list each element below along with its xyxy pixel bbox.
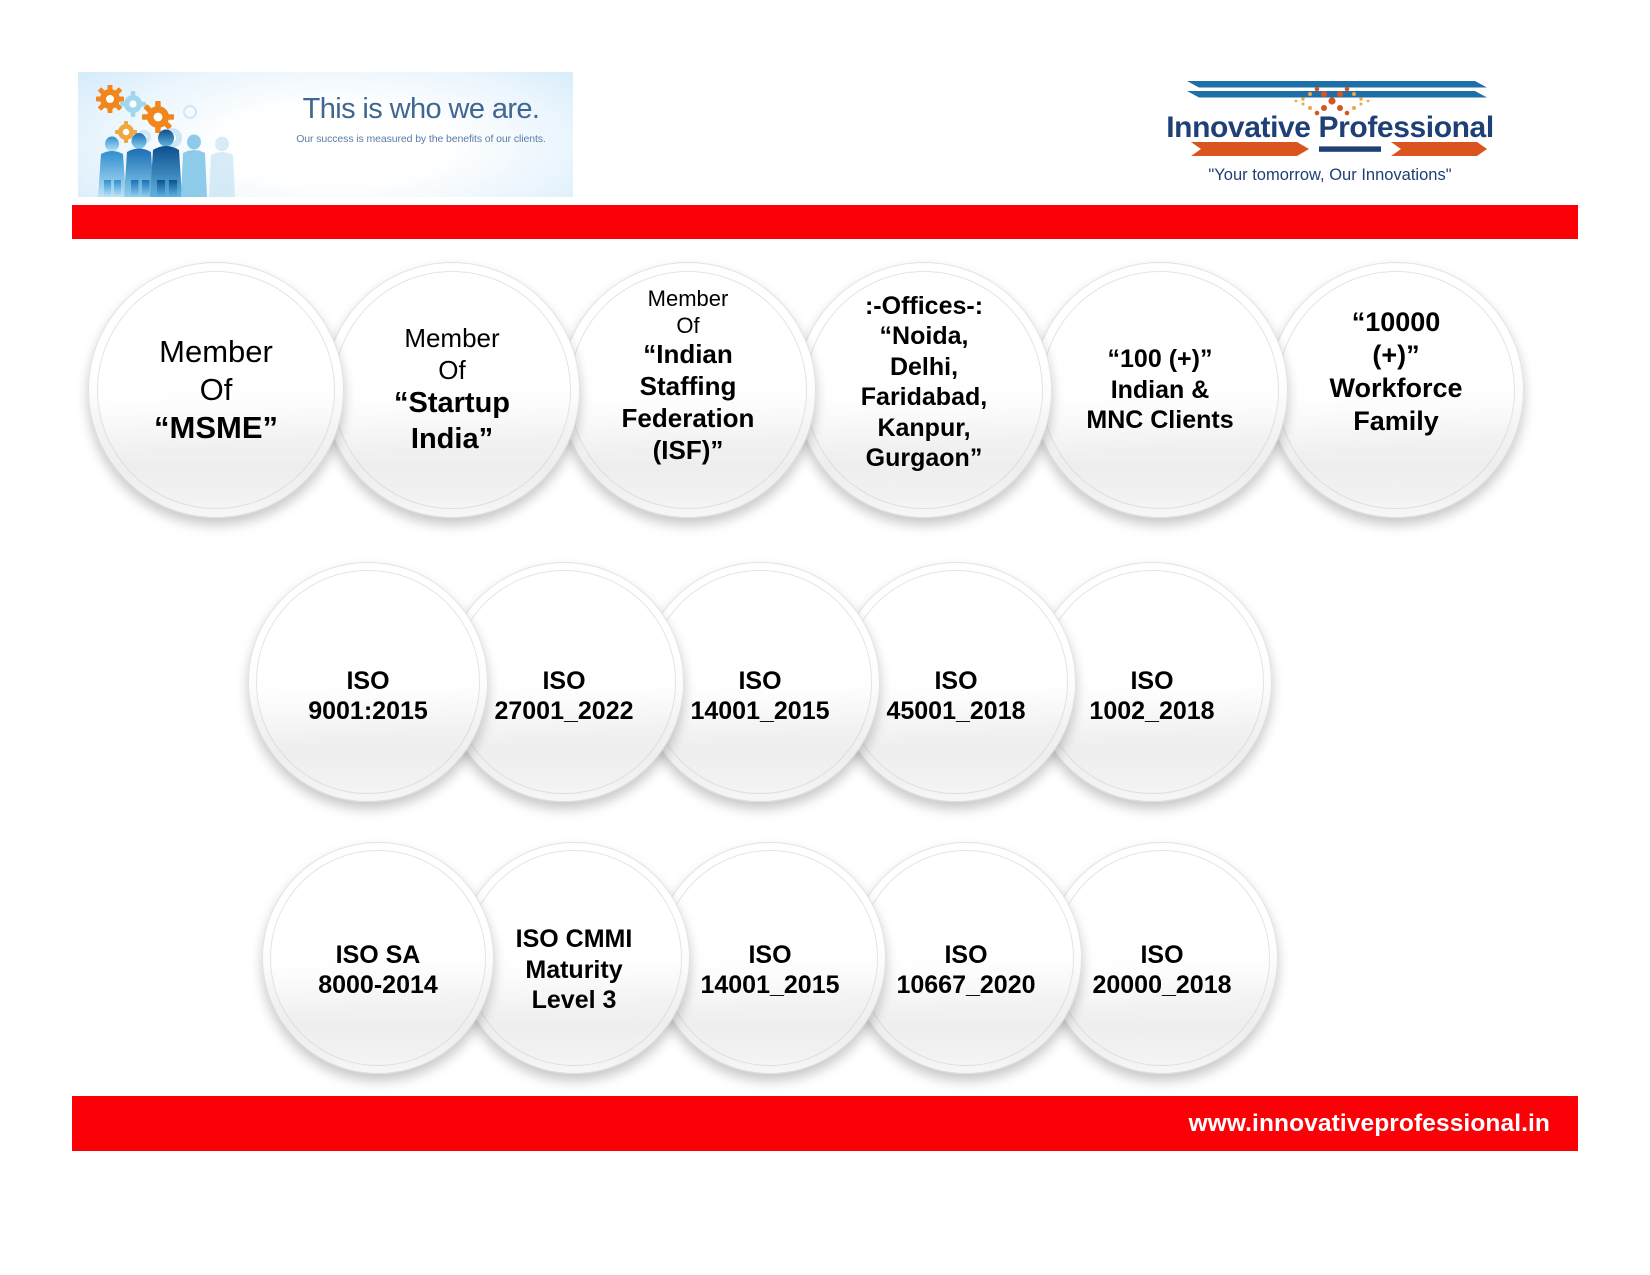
circle-text-line: “Startup [344,386,559,421]
slide-page: This is who we are. Our success is measu… [0,0,1650,1275]
circle-text-line: ISO [267,666,469,697]
circle-clients[interactable]: “100 (+)”Indian &MNC Clients [1032,262,1288,518]
page-header: This is who we are. Our success is measu… [0,0,1650,205]
circle-text-line: Federation [580,403,795,435]
circle-text-line: Faridabad, [816,382,1031,413]
circle-label: MemberOf“StartupIndia” [324,323,580,457]
circle-label: “100 (+)”Indian &MNC Clients [1032,344,1288,436]
circle-msme[interactable]: MemberOf“MSME” [88,262,344,518]
circle-text-line: 45001_2018 [855,696,1057,727]
circle-text-line: 9001:2015 [267,696,469,727]
footer-red-bar: www.innovativeprofessional.in [72,1096,1578,1151]
banner-title: This is who we are. [273,94,569,124]
circle-text-line: 14001_2015 [659,696,861,727]
circle-text-line: “Noida, [816,321,1031,352]
circle-label: “10000(+)”WorkforceFamily [1268,306,1524,438]
circle-text-line: ISO [673,940,868,971]
circle-offices[interactable]: :-Offices-:“Noida,Delhi,Faridabad,Kanpur… [796,262,1052,518]
circle-iso-9001[interactable]: ISO9001:2015 [248,562,488,802]
circle-text-line: Member [580,286,795,313]
circle-text-line: MNC Clients [1052,405,1267,436]
circle-text-line: (ISF)” [580,435,795,467]
circle-text-line: ISO CMMI [477,924,672,955]
circle-text-line: ISO [1065,940,1260,971]
circle-text-line: 8000-2014 [281,970,476,1001]
circle-label: :-Offices-:“Noida,Delhi,Faridabad,Kanpur… [796,291,1052,474]
circle-text-line: ISO SA [281,940,476,971]
circle-text-line: 10667_2020 [869,970,1064,1001]
circle-text-line: (+)” [1288,339,1503,372]
circle-workforce[interactable]: “10000(+)”WorkforceFamily [1268,262,1524,518]
logo-tagline: "Your tomorrow, Our Innovations" [1165,166,1495,185]
circle-text-line: “10000 [1288,306,1503,339]
circle-text-line: Workforce [1288,372,1503,405]
circle-text-line: :-Offices-: [816,291,1031,322]
circle-label: MemberOf“MSME” [88,333,344,446]
circle-text-line: 14001_2015 [673,970,868,1001]
circle-text-line: “Indian [580,339,795,371]
circle-text-line: Of [108,371,323,409]
logo-mid-bars-icon [1185,140,1487,158]
company-banner: This is who we are. Our success is measu… [78,72,573,197]
circle-startup-india[interactable]: MemberOf“StartupIndia” [324,262,580,518]
circle-text-line: Level 3 [477,985,672,1016]
circle-iso-sa-8000[interactable]: ISO SA8000-2014 [262,842,494,1074]
circle-text-line: “MSME” [108,409,323,447]
circle-text-line: Of [580,313,795,340]
circle-text-line: India” [344,422,559,457]
circle-text-line: “100 (+)” [1052,344,1267,375]
banner-text: This is who we are. Our success is measu… [273,94,569,145]
circle-text-line: Gurgaon” [816,443,1031,474]
circle-text-line: Delhi, [816,352,1031,383]
circle-text-line: ISO [869,940,1064,971]
circle-text-line: Member [344,323,559,355]
circle-label: MemberOf“IndianStaffingFederation(ISF)” [560,286,816,467]
people-silhouette-gears-icon [86,80,276,197]
circle-isf[interactable]: MemberOf“IndianStaffingFederation(ISF)” [560,262,816,518]
circle-text-line: Maturity [477,955,672,986]
circle-label: ISO9001:2015 [248,666,488,727]
circle-text-line: ISO [463,666,665,697]
header-red-divider [72,205,1578,239]
circle-text-line: ISO [659,666,861,697]
circle-text-line: ISO [855,666,1057,697]
circle-text-line: 1002_2018 [1051,696,1253,727]
circle-text-line: 27001_2022 [463,696,665,727]
circle-text-line: Indian & [1052,375,1267,406]
circle-text-line: Member [108,333,323,371]
company-logo: Innovative Professional "Your tomorrow, … [1165,78,1495,190]
circle-text-line: Staffing [580,371,795,403]
circle-text-line: ISO [1051,666,1253,697]
banner-subtitle: Our success is measured by the benefits … [273,133,569,145]
circle-text-line: Kanpur, [816,413,1031,444]
circle-text-line: 20000_2018 [1065,970,1260,1001]
circle-text-line: Family [1288,405,1503,438]
circle-text-line: Of [344,355,559,387]
circle-label: ISO SA8000-2014 [262,940,494,1001]
footer-website-url[interactable]: www.innovativeprofessional.in [1189,1110,1550,1138]
